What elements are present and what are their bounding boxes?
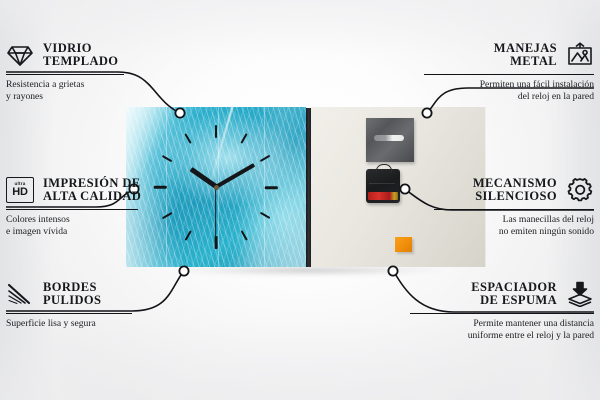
callout-title-line1: MANEJAS xyxy=(494,41,557,55)
callout-description: Las manecillas del reloj no emiten ningú… xyxy=(434,214,594,237)
callout-desc-line1: Colores intensos xyxy=(6,214,70,225)
hanger-slot xyxy=(374,135,404,141)
callout-title-line1: ESPACIADOR xyxy=(471,280,557,294)
callout-head: MECANISMO SILENCIOSO xyxy=(434,176,594,204)
callout-rule xyxy=(424,74,594,75)
callout-title-line1: IMPRESIÓN DE xyxy=(43,176,141,190)
gear-icon xyxy=(566,176,594,204)
ultra-hd-icon-main-text: HD xyxy=(12,187,28,198)
callout-description: Resistencia a grietas y rayones xyxy=(6,79,156,102)
callout-rule xyxy=(6,209,138,210)
callout-desc-line2: y rayones xyxy=(6,91,43,102)
callout-manejas-metal: MANEJAS METAL Permiten una fácil xyxy=(424,41,594,102)
callout-head: ultra HD IMPRESIÓN DE ALTA CALIDAD xyxy=(6,176,166,204)
callout-title-line2: ALTA CALIDAD xyxy=(43,189,141,203)
callout-rule xyxy=(6,313,132,314)
callout-title-line2: METAL xyxy=(510,54,557,68)
callout-description: Superficie lisa y segura xyxy=(6,318,156,329)
callout-head: ESPACIADOR DE ESPUMA xyxy=(410,280,594,308)
callout-desc-line1: Permite mantener una distancia xyxy=(473,318,594,329)
callout-title: ESPACIADOR DE ESPUMA xyxy=(471,281,557,308)
callout-rule xyxy=(434,209,594,210)
ultra-hd-icon: ultra HD xyxy=(6,176,34,204)
callout-title-line1: VIDRIO xyxy=(43,41,92,55)
callout-desc-line1: Superficie lisa y segura xyxy=(6,318,96,329)
callout-title: IMPRESIÓN DE ALTA CALIDAD xyxy=(43,177,141,204)
callout-desc-line1: Resistencia a grietas xyxy=(6,79,84,90)
callout-rule xyxy=(6,74,124,75)
callout-title-line1: BORDES xyxy=(43,280,97,294)
callout-head: BORDES PULIDOS xyxy=(6,280,156,308)
callout-title: MANEJAS METAL xyxy=(494,42,557,69)
callout-bordes-pulidos: BORDES PULIDOS Superficie lisa y segura xyxy=(6,280,156,330)
callout-description: Permite mantener una distancia uniforme … xyxy=(410,318,594,341)
metal-hanger-plate xyxy=(366,118,414,162)
picture-frame-hook-icon xyxy=(566,41,594,69)
polished-edges-icon xyxy=(6,280,34,308)
callout-title-line2: TEMPLADO xyxy=(43,54,118,68)
callout-title-line2: DE ESPUMA xyxy=(480,293,557,307)
callout-rule xyxy=(410,313,594,314)
callout-description: Colores intensos e imagen vívida xyxy=(6,214,166,237)
callout-head: VIDRIO TEMPLADO xyxy=(6,41,156,69)
callout-title-line2: PULIDOS xyxy=(43,293,101,307)
callout-mecanismo-silencioso: MECANISMO SILENCIOSO Las manecillas del … xyxy=(434,176,594,237)
callout-head: MANEJAS METAL xyxy=(424,41,594,69)
clock-mechanism-box xyxy=(366,169,400,203)
callout-vidrio-templado: VIDRIO TEMPLADO Resistencia a grietas y … xyxy=(6,41,156,102)
clock-hand-hub xyxy=(214,185,219,190)
callout-title-line2: SILENCIOSO xyxy=(475,189,557,203)
foam-spacer-pad xyxy=(395,237,412,252)
callout-impresion-alta-calidad: ultra HD IMPRESIÓN DE ALTA CALIDAD Color… xyxy=(6,176,166,237)
mechanism-battery xyxy=(368,192,398,200)
product-shadow xyxy=(130,267,486,281)
infographic-scene: VIDRIO TEMPLADO Resistencia a grietas y … xyxy=(0,0,600,400)
product-group xyxy=(126,107,486,272)
callout-title: MECANISMO SILENCIOSO xyxy=(473,177,557,204)
mechanism-hanging-loop xyxy=(376,164,392,173)
callout-desc-line2: uniforme entre el reloj y la pared xyxy=(468,330,594,341)
callout-desc-line2: no emiten ningún sonido xyxy=(499,226,594,237)
mechanism-detail-line xyxy=(369,183,395,184)
foam-spacer-icon xyxy=(566,280,594,308)
callout-desc-line1: Permiten una fácil instalación xyxy=(480,79,594,90)
callout-espaciador-espuma: ESPACIADOR DE ESPUMA Permite mantener un… xyxy=(410,280,594,341)
callout-desc-line2: del reloj en la pared xyxy=(518,91,594,102)
callout-title-line1: MECANISMO xyxy=(473,176,557,190)
callout-description: Permiten una fácil instalación del reloj… xyxy=(424,79,594,102)
clock-hour-marker xyxy=(215,125,218,138)
diamond-icon xyxy=(6,41,34,69)
clock-hour-marker xyxy=(265,186,278,189)
callout-title: VIDRIO TEMPLADO xyxy=(43,42,118,69)
callout-desc-line1: Las manecillas del reloj xyxy=(503,214,594,225)
callout-title: BORDES PULIDOS xyxy=(43,281,101,308)
callout-desc-line2: e imagen vívida xyxy=(6,226,67,237)
